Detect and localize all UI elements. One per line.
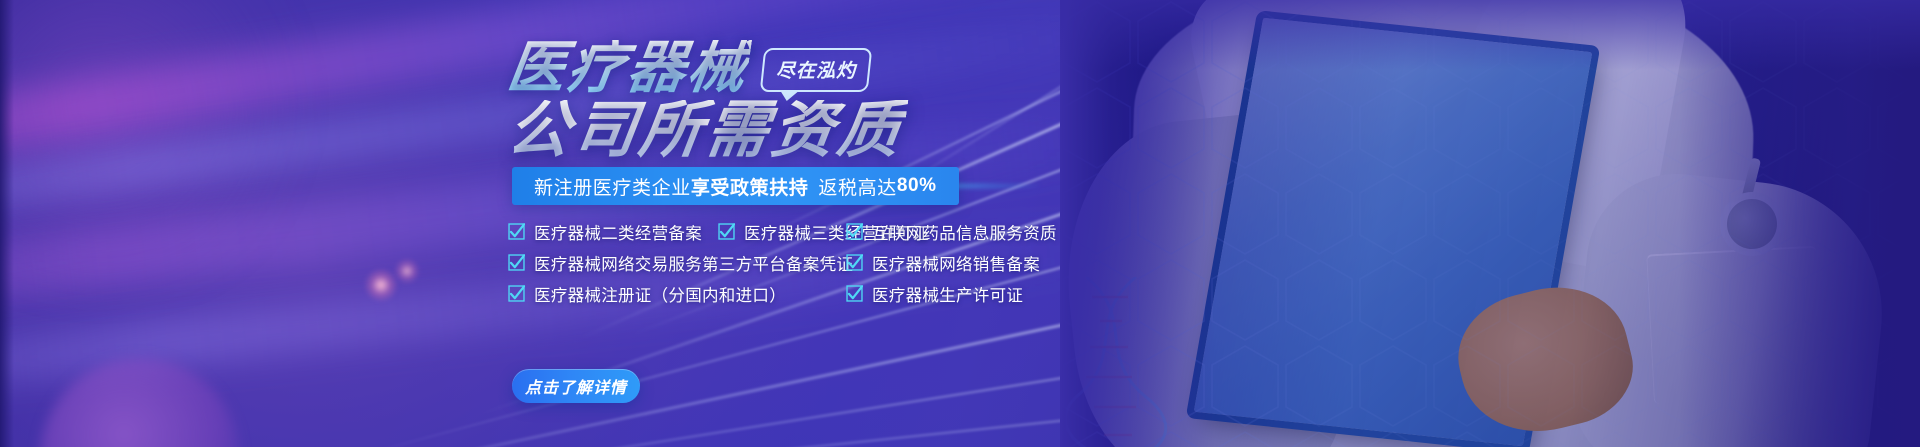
- brand-badge: 尽在泓灼: [760, 48, 873, 92]
- checkbox-check-icon: [508, 223, 525, 240]
- page-title-line1: 医疗器械: [504, 40, 752, 97]
- checklist-row: 医疗器械生产许可证: [846, 278, 1226, 309]
- checkbox-check-icon: [508, 285, 525, 302]
- checkbox-check-icon: [718, 223, 735, 240]
- checklist-item-label: 医疗器械生产许可证: [872, 282, 1023, 306]
- subtitle-normal-2: 返税高达: [818, 173, 896, 200]
- checklist-item-label: 互联网药品信息服务资质: [872, 220, 1057, 244]
- checklist-row: 互联网药品信息服务资质: [846, 216, 1226, 247]
- checklist-item-label: 医疗器械网络交易服务第三方平台备案凭证: [534, 251, 853, 275]
- checklist-item[interactable]: 互联网药品信息服务资质: [846, 220, 1057, 244]
- checklist-item-label: 医疗器械二类经营备案: [534, 220, 702, 244]
- banner-content: 医疗器械 尽在泓灼 公司所需资质 新注册医疗类企业享受政策扶持返税高达80% 医: [0, 0, 1920, 447]
- checklist-item[interactable]: 医疗器械生产许可证: [846, 282, 1023, 306]
- checklist-row: 医疗器械网络销售备案: [846, 247, 1226, 278]
- checkbox-check-icon: [846, 223, 863, 240]
- learn-more-button[interactable]: 点击了解详情: [512, 369, 640, 403]
- headline-row: 医疗器械 尽在泓灼: [508, 40, 870, 97]
- checklist-item[interactable]: 医疗器械网络交易服务第三方平台备案凭证: [508, 251, 853, 275]
- checklist-item-label: 医疗器械注册证（分国内和进口）: [534, 282, 786, 306]
- page-title-line2: 公司所需资质: [504, 100, 909, 162]
- brand-badge-label: 尽在泓灼: [776, 56, 856, 83]
- checkbox-check-icon: [846, 254, 863, 271]
- checkbox-check-icon: [508, 254, 525, 271]
- subtitle-bold-1: 享受政策扶持: [691, 173, 809, 200]
- checklist-right-column: 互联网药品信息服务资质 医疗器械网络销售备案: [846, 216, 1226, 309]
- checklist-item[interactable]: 医疗器械网络销售备案: [846, 251, 1040, 275]
- subtitle-bar: 新注册医疗类企业享受政策扶持返税高达80%: [512, 167, 959, 205]
- subtitle-normal-1: 新注册医疗类企业: [534, 173, 691, 200]
- medical-device-promo-banner: 医疗器械 尽在泓灼 公司所需资质 新注册医疗类企业享受政策扶持返税高达80% 医: [0, 0, 1920, 447]
- checklist-item-label: 医疗器械网络销售备案: [872, 251, 1040, 275]
- checklist-item[interactable]: 医疗器械二类经营备案: [508, 220, 702, 244]
- subtitle-bold-2: 80%: [897, 175, 937, 197]
- checkbox-check-icon: [846, 285, 863, 302]
- checklist-item[interactable]: 医疗器械注册证（分国内和进口）: [508, 282, 786, 306]
